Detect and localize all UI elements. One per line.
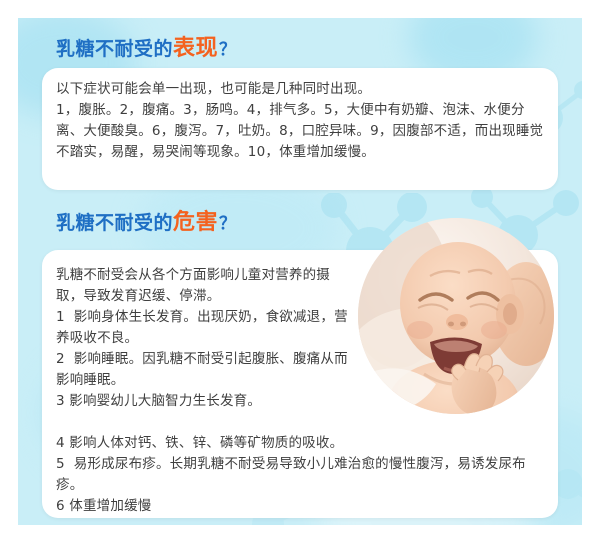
harms-body-text-narrow: 乳糖不耐受会从各个方面影响儿童对营养的摄取，导致发育迟缓、停滞。 1 影响身体生… xyxy=(56,265,356,412)
heading-question-mark: ？ xyxy=(219,214,237,234)
infographic-page: 乳糖不耐受的表现？ 以下症状可能会单一出现，也可能是几种同时出现。 1，腹胀。2… xyxy=(0,0,600,548)
heading-accent-text: 表现 xyxy=(173,36,218,61)
heading-question-mark: ？ xyxy=(219,40,237,60)
harms-body-text-wide: 4 影响人体对钙、铁、锌、磷等矿物质的吸收。 5 易形成尿布疹。长期乳糖不耐受易… xyxy=(56,433,546,517)
crying-baby-photo xyxy=(358,218,554,414)
crying-baby-illustration-icon xyxy=(358,218,554,414)
section-heading-symptoms: 乳糖不耐受的表现？ xyxy=(56,38,237,60)
heading-lead-text: 乳糖不耐受的 xyxy=(56,38,173,60)
heading-lead-text: 乳糖不耐受的 xyxy=(56,212,173,234)
heading-accent-text: 危害 xyxy=(173,210,218,235)
symptoms-body-text: 以下症状可能会单一出现，也可能是几种同时出现。 1，腹胀。2，腹痛。3，肠鸣。4… xyxy=(56,79,546,163)
section-heading-harms: 乳糖不耐受的危害？ xyxy=(56,212,237,234)
